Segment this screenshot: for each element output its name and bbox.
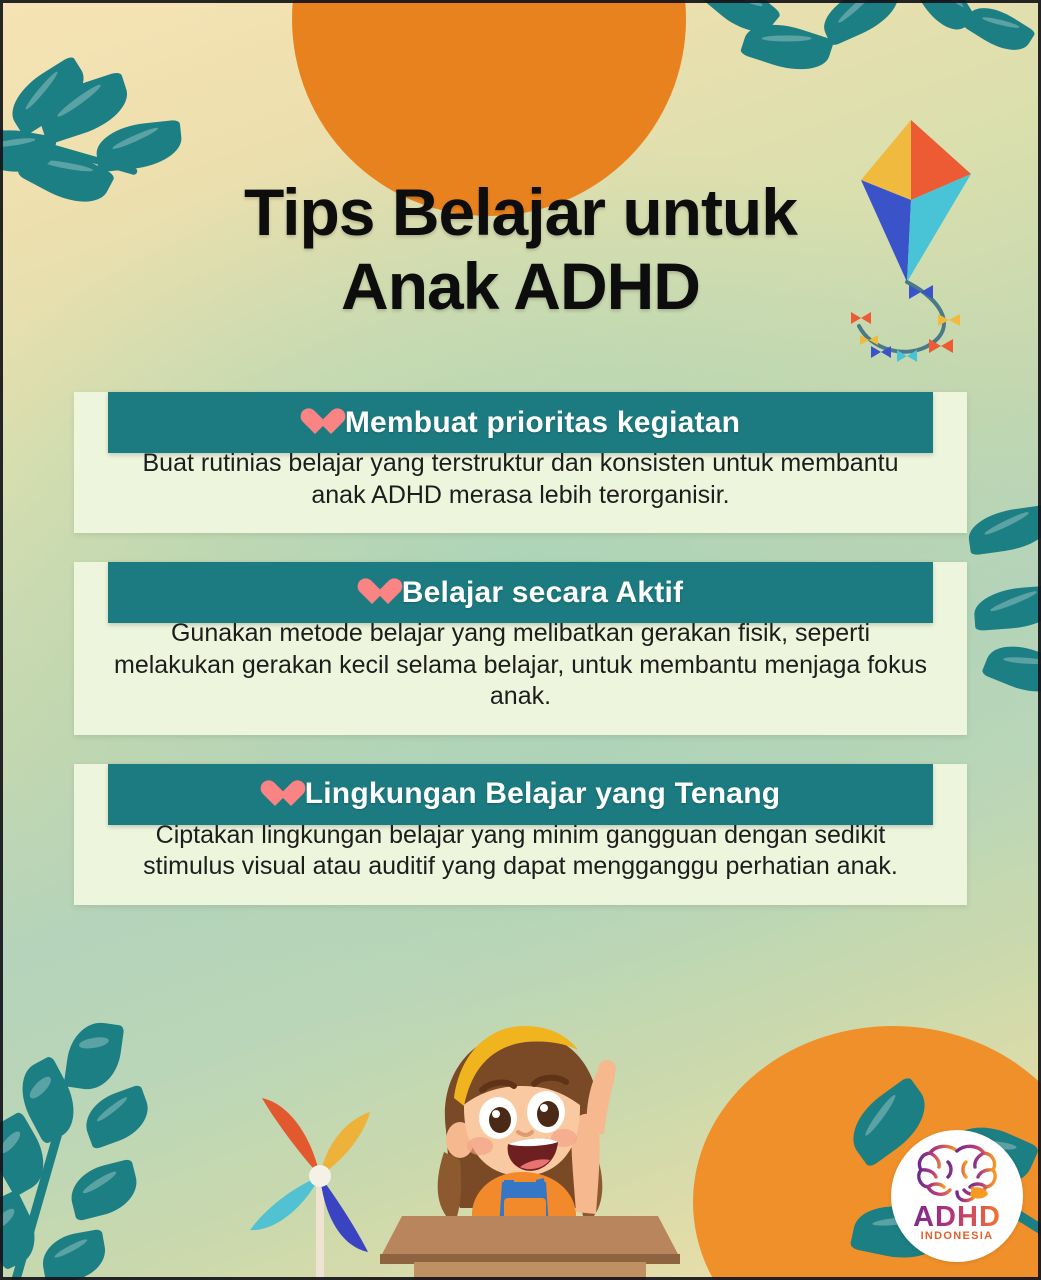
kite-icon — [849, 104, 1025, 366]
tip-card: Lingkungan Belajar yang Tenang Ciptakan … — [0, 764, 1041, 905]
tip-card-heading: Belajar secara Aktif — [402, 576, 683, 610]
tip-card-header: Belajar secara Aktif — [108, 562, 933, 623]
tip-card-text: Buat rutinias belajar yang terstruktur d… — [108, 448, 933, 511]
desk-illustration — [380, 1206, 680, 1280]
tip-card-heading: Lingkungan Belajar yang Tenang — [305, 777, 781, 811]
tip-card-header: Membuat prioritas kegiatan — [108, 392, 933, 453]
tips-card-list: Membuat prioritas kegiatan Buat rutinias… — [0, 392, 1041, 934]
tip-card-header: Lingkungan Belajar yang Tenang — [108, 764, 933, 825]
page-title-line1: Tips Belajar untuk — [244, 175, 797, 249]
tip-card-text: Ciptakan lingkungan belajar yang minim g… — [108, 820, 933, 883]
logo-badge[interactable]: ADHD INDONESIA — [891, 1130, 1023, 1262]
tip-card: Belajar secara Aktif Gunakan metode bela… — [0, 562, 1041, 735]
tip-card: Membuat prioritas kegiatan Buat rutinias… — [0, 392, 1041, 533]
infographic-poster: Tips Belajar untuk Anak ADHD Membuat pri… — [0, 0, 1041, 1280]
brain-icon — [914, 1142, 1000, 1204]
heart-icon — [261, 781, 291, 808]
logo-subtitle: INDONESIA — [921, 1230, 994, 1242]
heart-icon — [301, 409, 331, 436]
tip-card-heading: Membuat prioritas kegiatan — [345, 406, 740, 440]
heart-icon — [358, 579, 388, 606]
tip-card-text: Gunakan metode belajar yang melibatkan g… — [108, 618, 933, 713]
